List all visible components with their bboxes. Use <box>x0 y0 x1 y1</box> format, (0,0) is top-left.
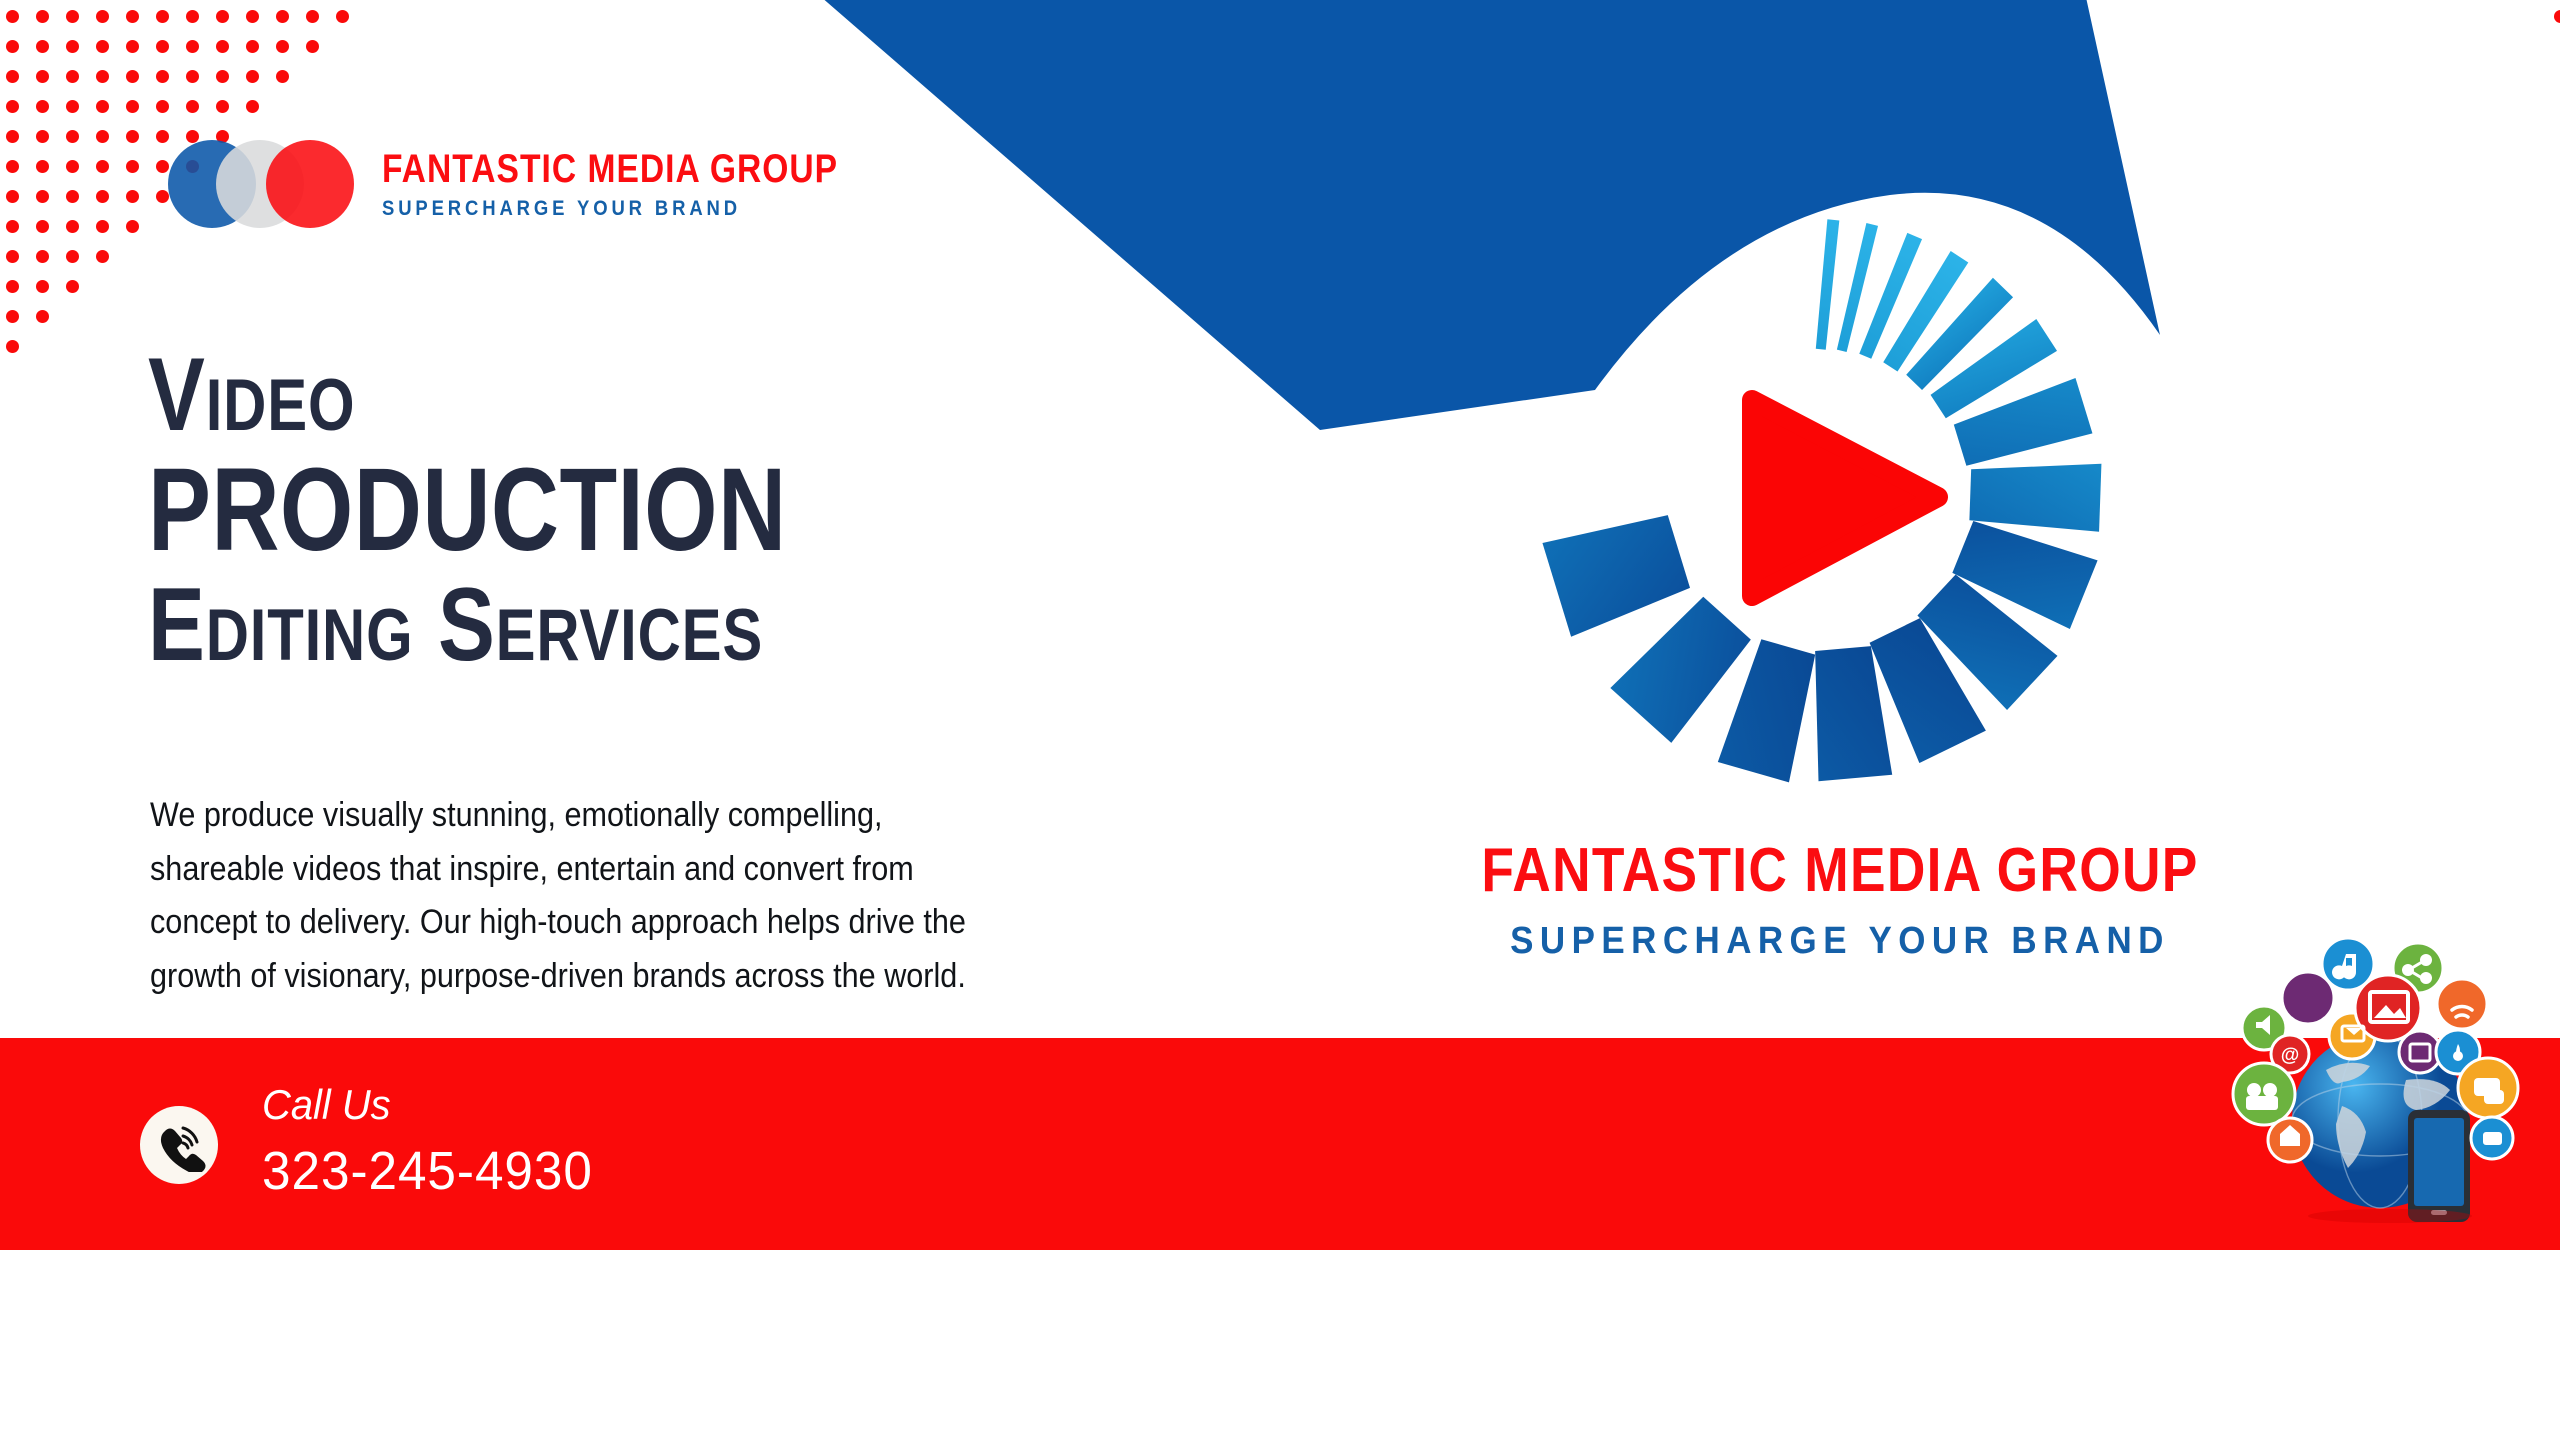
decorative-dot <box>186 40 199 53</box>
social-media-cluster: @ <box>2230 920 2560 1235</box>
decorative-dot <box>96 10 109 23</box>
video-camera-icon <box>2233 1063 2295 1125</box>
page-title: Video PRODUCTION Editing Services <box>148 345 946 676</box>
header-logo-tagline: SUPERCHARGE YOUR BRAND <box>382 198 860 219</box>
decorative-dot <box>96 160 109 173</box>
three-overlapping-circles-icon <box>168 140 356 228</box>
decorative-dot <box>6 190 19 203</box>
decorative-dot <box>156 100 169 113</box>
decorative-dot <box>6 160 19 173</box>
decorative-dot <box>66 250 79 263</box>
call-us-label: Call Us <box>262 1084 593 1126</box>
decorative-dot <box>126 70 139 83</box>
decorative-dot <box>246 40 259 53</box>
decorative-dot <box>246 70 259 83</box>
decorative-dot <box>6 70 19 83</box>
header-logo[interactable]: FANTASTIC MEDIA GROUP SUPERCHARGE YOUR B… <box>168 140 925 228</box>
decorative-dot <box>96 70 109 83</box>
decorative-dot <box>6 220 19 233</box>
decorative-dot <box>36 130 49 143</box>
decorative-dot <box>36 10 49 23</box>
banner-canvas: FANTASTIC MEDIA GROUP SUPERCHARGE YOUR B… <box>0 0 2560 1440</box>
decorative-dot <box>66 190 79 203</box>
decorative-dot <box>186 10 199 23</box>
decorative-dot <box>276 40 289 53</box>
decorative-dot <box>246 10 259 23</box>
decorative-dot <box>66 220 79 233</box>
decorative-dot <box>336 10 349 23</box>
brand-tagline: SUPERCHARGE YOUR BRAND <box>1380 922 2300 960</box>
decorative-dot <box>66 280 79 293</box>
decorative-dot <box>96 190 109 203</box>
brand-lockup: FANTASTIC MEDIA GROUP SUPERCHARGE YOUR B… <box>1340 840 2340 960</box>
call-us-block[interactable]: Call Us 323-245-4930 <box>140 1084 610 1198</box>
decorative-dot <box>36 310 49 323</box>
decorative-dot <box>96 130 109 143</box>
decorative-dot <box>126 220 139 233</box>
decorative-dot <box>186 100 199 113</box>
decorative-dot <box>6 310 19 323</box>
decorative-dot <box>96 100 109 113</box>
decorative-dot <box>66 40 79 53</box>
brand-name: FANTASTIC MEDIA GROUP <box>1410 840 2270 902</box>
decorative-dot <box>36 190 49 203</box>
decorative-dot <box>96 250 109 263</box>
decorative-dot <box>96 220 109 233</box>
headline-line-2: PRODUCTION <box>148 453 787 569</box>
decorative-dot <box>276 10 289 23</box>
decorative-dot <box>126 190 139 203</box>
decorative-dot <box>126 10 139 23</box>
decorative-dot <box>246 100 259 113</box>
decorative-dot <box>66 10 79 23</box>
decorative-dot <box>66 130 79 143</box>
decorative-dot <box>126 160 139 173</box>
decorative-dot <box>156 10 169 23</box>
decorative-dot <box>36 40 49 53</box>
decorative-dot <box>6 250 19 263</box>
decorative-dot <box>6 130 19 143</box>
decorative-dot <box>156 40 169 53</box>
decorative-dot <box>306 10 319 23</box>
call-to-action-bar: Call Us 323-245-4930 <box>0 1038 2560 1250</box>
decorative-dot <box>126 130 139 143</box>
decorative-dot <box>36 250 49 263</box>
wifi-icon <box>2437 979 2487 1029</box>
decorative-dot <box>186 70 199 83</box>
decorative-dot <box>36 100 49 113</box>
decorative-dot <box>36 280 49 293</box>
phone-number[interactable]: 323-245-4930 <box>262 1144 593 1198</box>
headline-line-3: Editing Services <box>148 575 803 677</box>
decorative-dot <box>36 70 49 83</box>
segmented-ring-icon <box>1470 170 2170 830</box>
decorative-dot <box>6 10 19 23</box>
header-logo-title: FANTASTIC MEDIA GROUP <box>382 149 838 189</box>
decorative-dot <box>216 10 229 23</box>
decorative-dot <box>126 40 139 53</box>
decorative-dot <box>276 70 289 83</box>
decorative-dot <box>306 40 319 53</box>
decorative-dot <box>66 100 79 113</box>
svg-text:@: @ <box>2281 1045 2300 1066</box>
decorative-dot <box>126 100 139 113</box>
decorative-dot <box>36 160 49 173</box>
decorative-dot <box>6 40 19 53</box>
smartphone-icon <box>2408 1110 2470 1222</box>
decorative-dot <box>66 70 79 83</box>
decorative-dot <box>6 280 19 293</box>
decorative-dot <box>216 100 229 113</box>
decorative-dot <box>2554 10 2560 23</box>
decorative-dot <box>96 40 109 53</box>
headline-line-1: Video <box>148 345 803 447</box>
decorative-dot <box>156 70 169 83</box>
ringing-phone-icon <box>140 1106 218 1184</box>
decorative-dot <box>216 70 229 83</box>
decorative-dot <box>216 40 229 53</box>
decorative-dot <box>6 100 19 113</box>
body-paragraph: We produce visually stunning, emotionall… <box>150 789 1014 1004</box>
decorative-dot <box>36 220 49 233</box>
decorative-dot <box>6 340 19 353</box>
decorative-dot <box>66 160 79 173</box>
